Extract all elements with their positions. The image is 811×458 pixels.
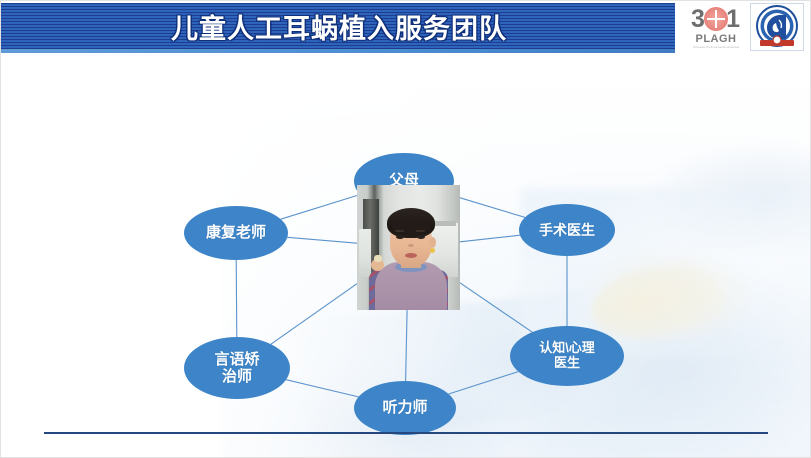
diagram-node-surgeon[interactable]: 手术医生 (519, 204, 615, 256)
diagram-node-rehab[interactable]: 康复老师 (184, 206, 288, 260)
node-label-line: 言语矫 (214, 351, 259, 368)
header-underline (1, 49, 677, 53)
diagram-node-label: 手术医生 (539, 222, 595, 238)
node-label-line: 手术医生 (539, 222, 595, 238)
connector-rehab-to-center (287, 237, 357, 243)
diagram-node-psychologist[interactable]: 认知\心理医生 (510, 326, 624, 386)
plagh-digit-3: 3 (691, 7, 705, 32)
connector-psychologist-to-audiologist (449, 372, 519, 394)
node-label-line: 听力师 (382, 399, 427, 416)
plagh-wordmark: PLAGH (696, 34, 737, 45)
slide-canvas: 儿童人工耳蜗植入服务团队 3 1 PLAGH Chinese PLA Gener… (0, 0, 811, 458)
connector-surgeon-to-center (460, 235, 520, 242)
head-profile-icon (752, 5, 802, 49)
diagram-node-label: 听力师 (382, 399, 427, 416)
node-label-line: 医生 (539, 356, 595, 371)
page-title: 儿童人工耳蜗植入服务团队 (1, 3, 677, 49)
head-profile-emblem-logo (750, 3, 804, 51)
connector-audiologist-to-speech (286, 380, 358, 397)
logo-group: 3 1 PLAGH Chinese PLA General Hospital (675, 1, 810, 53)
medical-cross-circle-icon (704, 7, 728, 31)
connector-rehab-to-parents (281, 195, 361, 220)
diagram-node-label: 康复老师 (206, 224, 266, 241)
connector-speech-to-center (271, 284, 357, 345)
node-label-line: 认知\心理 (539, 341, 595, 356)
connector-audiologist-to-center (406, 310, 408, 381)
plagh-301-mark: 3 1 (691, 6, 741, 33)
plagh-subtext: Chinese PLA General Hospital (689, 45, 743, 49)
connector-speech-to-rehab (236, 260, 237, 337)
plagh-digit-1: 1 (726, 7, 740, 32)
diagram-node-speech[interactable]: 言语矫治师 (184, 337, 290, 399)
team-diagram: 父母手术医生认知\心理医生听力师言语矫治师康复老师 (1, 53, 811, 458)
connector-psychologist-to-center (460, 283, 532, 332)
diagram-node-label: 认知\心理医生 (539, 341, 595, 371)
node-label-line: 康复老师 (206, 224, 266, 241)
diagram-node-label: 言语矫治师 (214, 351, 259, 386)
center-child-photo (357, 185, 460, 310)
node-label-line: 治师 (214, 368, 259, 385)
footer-divider (44, 432, 768, 434)
plagh-logo: 3 1 PLAGH Chinese PLA General Hospital (688, 4, 744, 50)
diagram-node-audiologist[interactable]: 听力师 (354, 381, 456, 435)
